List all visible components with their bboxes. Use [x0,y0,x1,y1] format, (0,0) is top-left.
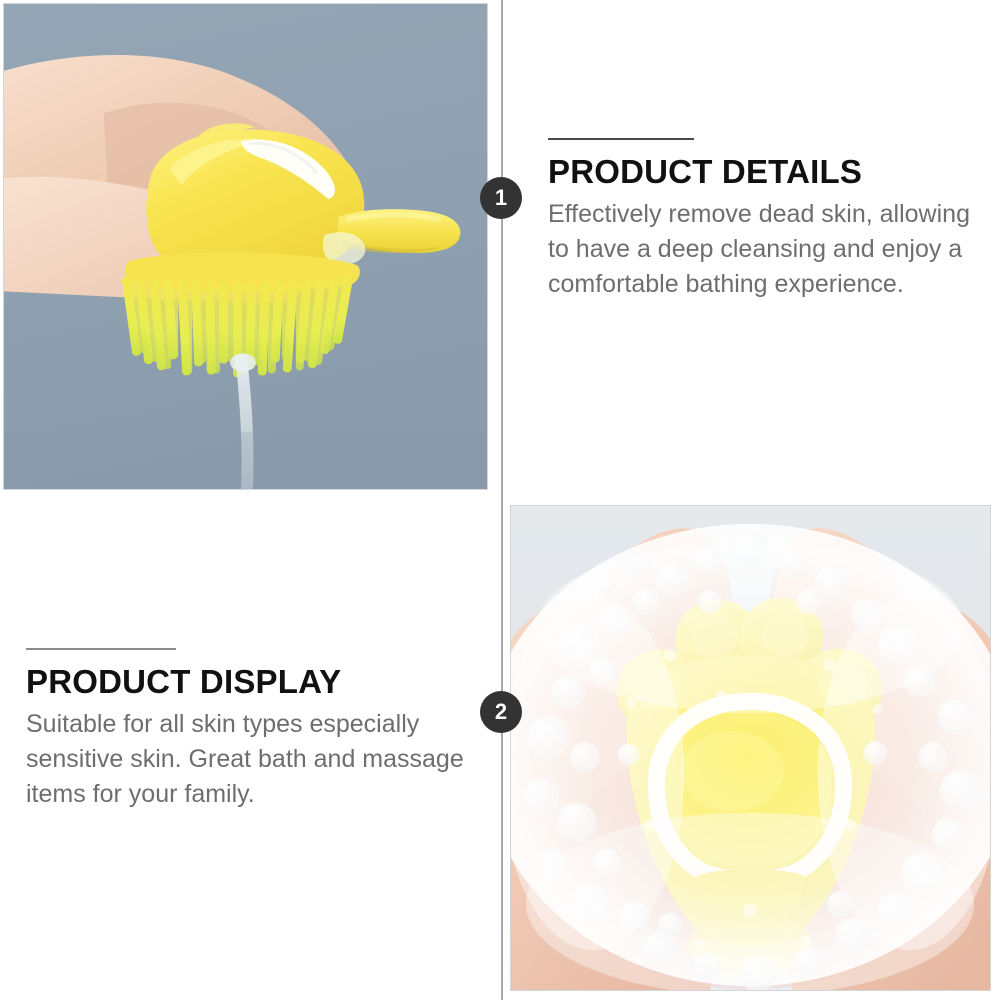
badge-2-number: 2 [495,701,507,723]
badge-1-number: 1 [495,187,507,209]
display-rule [26,648,176,650]
vertical-divider [501,0,503,1000]
product-display-block: PRODUCT DISPLAY Suitable for all skin ty… [26,648,471,812]
paw-brush-foam-illustration [511,506,990,990]
product-display-body: Suitable for all skin types especially s… [26,707,471,812]
brush-in-hand-photo [3,3,488,490]
step-badge-1: 1 [480,177,522,219]
product-details-body: Effectively remove dead skin, allowing t… [548,197,978,302]
infographic-page: 1 PRODUCT DETAILS Effectively remove dea… [0,0,1000,1000]
product-details-heading: PRODUCT DETAILS [548,154,978,191]
step-badge-2: 2 [480,691,522,733]
soap-foam [511,524,990,990]
details-rule [548,138,694,140]
product-details-block: PRODUCT DETAILS Effectively remove dead … [548,138,978,302]
brush-in-hand-illustration [4,4,487,489]
paw-brush-foam-photo [510,505,991,991]
product-display-heading: PRODUCT DISPLAY [26,664,471,701]
